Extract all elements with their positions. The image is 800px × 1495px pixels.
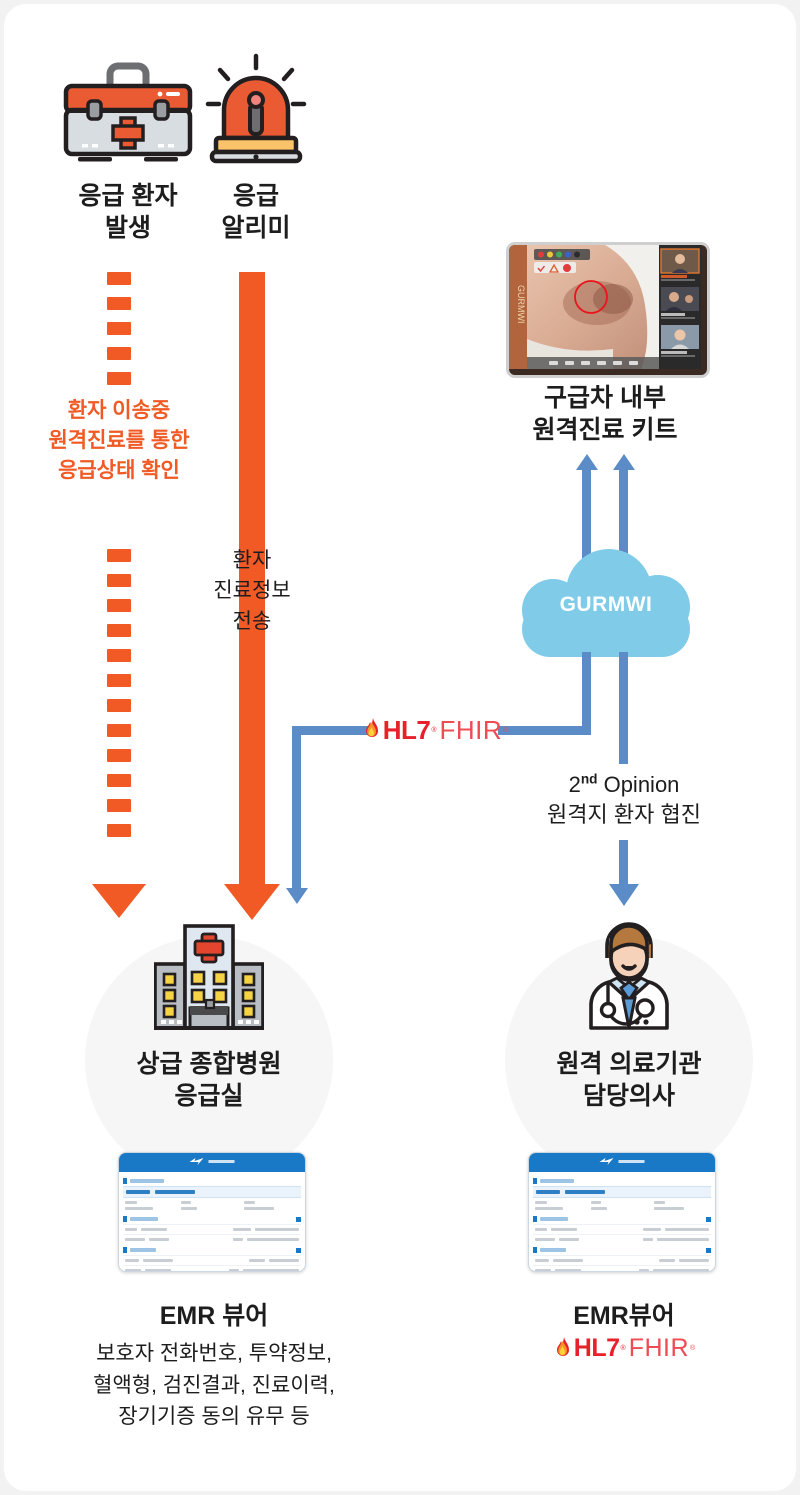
second-opinion-arrow-head	[609, 884, 639, 906]
emr-row	[123, 1224, 301, 1234]
emr-logo	[190, 1157, 235, 1166]
emr-screenshot-right	[528, 1152, 716, 1272]
second-opinion-line-lower	[619, 840, 628, 884]
hospital-inbound-vertical	[292, 726, 301, 888]
emergency-patient-label: 응급 환자 발생	[38, 180, 218, 244]
doctor-label: 원격 의료기관 담당의사	[499, 1048, 759, 1112]
emr-viewer-left-title: EMR 뷰어	[89, 1296, 339, 1332]
cloud-to-kit-arrow-head-2	[613, 454, 635, 470]
emr-screenshot-left	[118, 1152, 306, 1272]
first-aid-kit-icon	[58, 56, 198, 168]
hospital-building-icon	[154, 922, 264, 1035]
emr-row	[533, 1198, 711, 1213]
second-opinion-english: 2nd Opinion	[504, 770, 744, 800]
hl7-trademark: ®	[621, 1345, 626, 1352]
emr-patient-band	[123, 1186, 301, 1198]
second-opinion-word: Opinion	[597, 772, 679, 797]
emr-section-title	[123, 1178, 301, 1184]
patient-info-arrow-head	[224, 884, 280, 920]
emr-section-title-2	[533, 1216, 711, 1222]
emr-row	[533, 1224, 711, 1234]
cloud-to-kit-arrow-head-1	[576, 454, 598, 470]
ambulance-kit-label: 구급차 내부 원격진료 키트	[475, 382, 735, 446]
emr-row	[123, 1234, 301, 1244]
emr-viewer-right-fhir-logo: HL7® FHIR®	[499, 1334, 749, 1363]
cloud-to-hospital-horizontal-right	[496, 726, 591, 735]
emr-section-title-2	[123, 1216, 301, 1222]
emr-row	[123, 1255, 301, 1265]
emr-section-title	[533, 1178, 711, 1184]
cloud-label: GURMWI	[522, 593, 690, 617]
hl7-fhir-logo: HL7® FHIR®	[372, 710, 498, 750]
emr-row	[123, 1198, 301, 1213]
emr-header-bar	[119, 1153, 305, 1172]
second-opinion-korean: 원격지 환자 협진	[504, 800, 744, 830]
emr-patient-band	[533, 1186, 711, 1198]
emr-row	[533, 1265, 711, 1272]
hl7-trademark: ®	[431, 727, 436, 734]
hospital-label: 상급 종합병원 응급실	[79, 1048, 339, 1112]
emr-section-title-3	[533, 1247, 711, 1253]
emr-header-bar	[529, 1153, 715, 1172]
siren-icon	[202, 52, 310, 170]
diagram-card: 응급 환자 발생 응급 알리미 환자 이송중 원격진료를 통한 응급상태 확인 …	[4, 4, 796, 1491]
emergency-alarm-label: 응급 알리미	[192, 180, 320, 244]
fhir-trademark: ®	[503, 727, 508, 734]
second-opinion-number: 2	[569, 772, 581, 797]
patient-info-label: 환자 진료정보 전송	[188, 546, 316, 637]
second-opinion-line-upper	[619, 652, 628, 764]
emr-section-title-3	[123, 1247, 301, 1253]
emr-row	[123, 1265, 301, 1272]
emr-body	[529, 1172, 715, 1272]
emr-body	[119, 1172, 305, 1272]
cloud-to-hospital-vertical	[582, 652, 591, 734]
second-opinion-ordinal: nd	[581, 772, 598, 787]
svg-text:GURMWI: GURMWI	[516, 285, 526, 324]
emr-row	[533, 1234, 711, 1244]
emr-viewer-right-title: EMR뷰어	[499, 1296, 749, 1332]
second-opinion-label: 2nd Opinion 원격지 환자 협진	[504, 770, 744, 831]
transport-arrow-head	[92, 884, 146, 918]
fhir-trademark: ®	[690, 1345, 695, 1352]
transport-check-label: 환자 이송중 원격진료를 통한 응급상태 확인	[18, 396, 220, 485]
transport-dashed-arrow-line	[107, 272, 131, 849]
hl7-text: HL7	[574, 1334, 620, 1363]
fhir-text: FHIR	[439, 715, 502, 746]
emr-row	[533, 1255, 711, 1265]
hl7-text: HL7	[383, 715, 431, 746]
flame-icon	[362, 717, 382, 743]
emr-logo	[600, 1157, 645, 1166]
doctor-icon	[567, 922, 691, 1037]
telemedicine-video-screenshot: GURMWI	[506, 242, 710, 378]
hospital-inbound-arrow-head	[286, 888, 308, 904]
cloud-icon: GURMWI	[522, 549, 690, 657]
flame-icon	[553, 1336, 573, 1362]
emr-viewer-left-body: 보호자 전화번호, 투약정보, 혈액형, 검진결과, 진료이력, 장기기증 동의…	[69, 1338, 359, 1433]
fhir-text: FHIR	[629, 1334, 689, 1363]
